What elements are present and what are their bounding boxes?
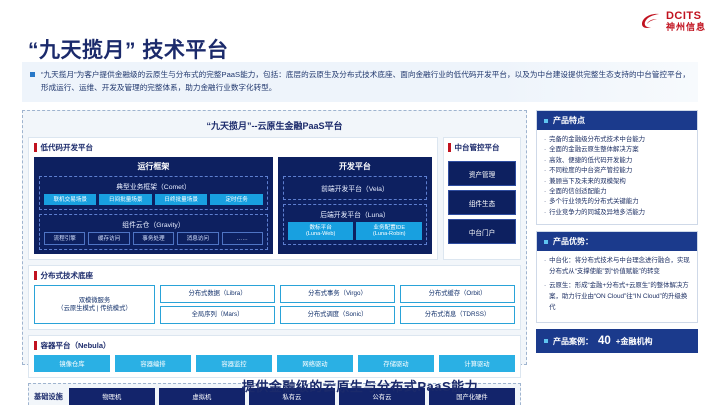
- square-bullet-icon: [544, 119, 548, 123]
- control-item[interactable]: 中台门户: [448, 219, 516, 244]
- foundation-column: 分布式事务（Virgo） 分布式调度（Sonic）: [280, 285, 395, 324]
- container-cell[interactable]: 容器编排: [115, 355, 191, 372]
- container-cell[interactable]: 计算驱动: [439, 355, 515, 372]
- accent-bar-icon: [34, 271, 37, 280]
- chip-item[interactable]: 日终批量场景: [155, 194, 207, 205]
- chip-item[interactable]: 日间批量场景: [99, 194, 151, 205]
- container-grid: 镜像仓库 容器编排 容器监控 网络驱动 存储驱动 计算驱动: [34, 355, 515, 372]
- dev-platform-title: 开发平台: [278, 157, 432, 176]
- list-item-label: 完备的金融级分布式技术中台能力: [549, 135, 645, 145]
- product-advantages-title: 产品优势：: [553, 236, 593, 247]
- gravity-section: 组件云仓（Gravity） 流程引擎 缓存访问 事务处理 消息访问 ……: [39, 214, 268, 250]
- container-cell[interactable]: 镜像仓库: [34, 355, 110, 372]
- square-bullet-icon: [544, 339, 548, 343]
- foundation-cell[interactable]: 分布式消息（TDRSS）: [400, 306, 515, 324]
- list-item-label: 中台化：将分布式技术与中台理念进行融合，实现分布式从“支撑使能”到“价值赋能”的…: [549, 256, 690, 278]
- frontend-label: 前端开发平台（Vela）: [288, 181, 422, 195]
- runtime-framework-title: 运行框架: [34, 157, 273, 176]
- chip-item[interactable]: ……: [222, 232, 263, 245]
- list-item-label: 全面的金融云原生整体解决方案: [549, 145, 638, 155]
- product-features-title: 产品特点: [553, 115, 585, 126]
- intro-banner: “九天揽月”为客户提供金融级的云原生与分布式的完整PaaS能力，包括：底层的云原…: [22, 62, 698, 102]
- container-cell[interactable]: 存储驱动: [358, 355, 434, 372]
- control-group-header: 中台管控平台: [448, 142, 516, 153]
- lowcode-group-title: 低代码开发平台: [41, 142, 94, 153]
- foundation-cell[interactable]: 全局序列（Mars）: [160, 306, 275, 324]
- list-item-label: 兼顾当下及未来的双模架构: [549, 177, 626, 187]
- foundation-cell[interactable]: 分布式调度（Sonic）: [280, 306, 395, 324]
- backend-label: 后端开发平台（Luna）: [288, 208, 422, 222]
- dot-bullet-icon: ·: [544, 197, 546, 207]
- control-platform-group: 中台管控平台 资产管理 组件生态 中台门户: [443, 137, 521, 260]
- foundation-column: 分布式数据（Libra） 全局序列（Mars）: [160, 285, 275, 324]
- list-item-label: 行业竞争力的同城及异地多活能力: [549, 208, 645, 218]
- foundation-cell[interactable]: 分布式事务（Virgo）: [280, 285, 395, 303]
- dot-bullet-icon: ·: [544, 208, 546, 218]
- accent-bar-icon: [34, 143, 37, 152]
- product-case-unit: +金融机构: [616, 336, 653, 347]
- square-bullet-icon: [30, 72, 35, 77]
- comet-chip-row: 联机交易场景 日间批量场景 日终批量场景 定时任务: [44, 194, 263, 205]
- list-item: ·中台化：将分布式技术与中台理念进行融合，实现分布式从“支撑使能”到“价值赋能”…: [544, 256, 690, 278]
- list-item: ·兼顾当下及未来的双模架构: [544, 177, 690, 187]
- foundation-group-header: 分布式技术底座: [34, 270, 515, 281]
- gravity-chip-row: 流程引擎 缓存访问 事务处理 消息访问 ……: [44, 232, 263, 245]
- product-advantages-list: ·中台化：将分布式技术与中台理念进行融合，实现分布式从“支撑使能”到“价值赋能”…: [537, 251, 697, 322]
- footer-tagline: 提供金融级的云原生与分布式PaaS能力: [0, 376, 720, 395]
- dot-bullet-icon: ·: [544, 156, 546, 166]
- foundation-group: 分布式技术底座 双模微服务 （云原生模式 | 传统模式） 分布式数据（Libra…: [28, 265, 521, 330]
- chip-item[interactable]: 流程引擎: [44, 232, 85, 245]
- runtime-framework-card[interactable]: 运行框架 典型业务框架（Comet） 联机交易场景 日间批量场景 日终批量场景 …: [34, 157, 273, 254]
- backend-chip-row: 数标平台 (Luna-Web) 业务配置IDE (Luna-Robin): [288, 222, 422, 240]
- chip-item[interactable]: 事务处理: [133, 232, 174, 245]
- list-item: ·行业竞争力的同城及异地多活能力: [544, 208, 690, 218]
- product-features-card: 产品特点 ·完备的金融级分布式技术中台能力 ·全面的金融云原生整体解决方案 ·高…: [536, 110, 698, 225]
- list-item-label: 全面的信创适配能力: [549, 187, 607, 197]
- foundation-column: 分布式缓存（Orbit） 分布式消息（TDRSS）: [400, 285, 515, 324]
- intro-text: “九天揽月”为客户提供金融级的云原生与分布式的完整PaaS能力，包括：底层的云原…: [41, 68, 690, 95]
- chip-item[interactable]: 缓存访问: [88, 232, 129, 245]
- diagram-title: “九天揽月”--云原生金融PaaS平台: [28, 116, 521, 137]
- control-group-title: 中台管控平台: [455, 142, 500, 153]
- backend-section: 后端开发平台（Luna） 数标平台 (Luna-Web) 业务配置IDE (Lu…: [283, 204, 427, 245]
- chip-item[interactable]: 消息访问: [177, 232, 218, 245]
- dot-bullet-icon: ·: [544, 187, 546, 197]
- container-group-title: 容器平台（Nebula）: [41, 340, 111, 351]
- comet-section: 典型业务框架（Comet） 联机交易场景 日间批量场景 日终批量场景 定时任务: [39, 176, 268, 210]
- foundation-grid: 双模微服务 （云原生模式 | 传统模式） 分布式数据（Libra） 全局序列（M…: [34, 285, 515, 324]
- list-item-label: 高效、便捷的低代码开发能力: [549, 156, 632, 166]
- container-cell[interactable]: 容器监控: [196, 355, 272, 372]
- brand-logo: DCITS 神州信息: [640, 10, 706, 32]
- chip-item[interactable]: 定时任务: [210, 194, 262, 205]
- chip-item[interactable]: 业务配置IDE (Luna-Robin): [356, 222, 422, 240]
- product-case-label: 产品案例：: [553, 336, 593, 347]
- logo-cn-text: 神州信息: [666, 23, 706, 32]
- dot-bullet-icon: ·: [544, 256, 546, 278]
- dot-bullet-icon: ·: [544, 281, 546, 314]
- list-item: ·多个行业领先的分布式关键能力: [544, 197, 690, 207]
- dot-bullet-icon: ·: [544, 177, 546, 187]
- comet-label: 典型业务框架（Comet）: [44, 180, 263, 194]
- dcits-swirl-icon: [640, 10, 662, 32]
- gravity-label: 组件云仓（Gravity）: [44, 218, 263, 232]
- foundation-group-title: 分布式技术底座: [41, 270, 94, 281]
- product-advantages-header: 产品优势：: [537, 232, 697, 251]
- chip-item[interactable]: 数标平台 (Luna-Web): [288, 222, 354, 240]
- product-case-card: 产品案例： 40 +金融机构: [536, 329, 698, 353]
- frontend-section: 前端开发平台（Vela）: [283, 176, 427, 200]
- chip-item[interactable]: 联机交易场景: [44, 194, 96, 205]
- product-case-number: 40: [598, 335, 611, 347]
- product-features-header: 产品特点: [537, 111, 697, 130]
- list-item-label: 云原生：形成“金融+分布式+云原生”的整体解决方案，助力行业由“ON Cloud…: [549, 281, 690, 314]
- foundation-cell[interactable]: 分布式数据（Libra）: [160, 285, 275, 303]
- control-item[interactable]: 组件生态: [448, 190, 516, 215]
- product-features-list: ·完备的金融级分布式技术中台能力 ·全面的金融云原生整体解决方案 ·高效、便捷的…: [537, 130, 697, 224]
- diagram-top-row: 低代码开发平台 运行框架 典型业务框架（Comet） 联机交易场景 日间批量场景…: [28, 137, 521, 260]
- control-item[interactable]: 资产管理: [448, 161, 516, 186]
- list-item-label: 不同粒度的中台资产管控能力: [549, 166, 632, 176]
- lowcode-group-header: 低代码开发平台: [34, 142, 432, 153]
- dev-platform-card[interactable]: 开发平台 前端开发平台（Vela） 后端开发平台（Luna） 数标平台 (Lun…: [278, 157, 432, 254]
- architecture-diagram: “九天揽月”--云原生金融PaaS平台 低代码开发平台 运行框架 典型业务框架（…: [22, 110, 527, 365]
- container-group-header: 容器平台（Nebula）: [34, 340, 515, 351]
- foundation-cell[interactable]: 分布式缓存（Orbit）: [400, 285, 515, 303]
- slide-root: DCITS 神州信息 “九天揽月” 技术平台 “九天揽月”为客户提供金融级的云原…: [0, 0, 720, 405]
- page-title: “九天揽月” 技术平台: [28, 34, 228, 64]
- logo-en-text: DCITS: [666, 11, 706, 22]
- square-bullet-icon: [544, 240, 548, 244]
- list-item: ·高效、便捷的低代码开发能力: [544, 156, 690, 166]
- lowcode-group: 低代码开发平台 运行框架 典型业务框架（Comet） 联机交易场景 日间批量场景…: [28, 137, 438, 260]
- list-item: ·全面的金融云原生整体解决方案: [544, 145, 690, 155]
- list-item: ·云原生：形成“金融+分布式+云原生”的整体解决方案，助力行业由“ON Clou…: [544, 281, 690, 314]
- container-cell[interactable]: 网络驱动: [277, 355, 353, 372]
- product-advantages-card: 产品优势： ·中台化：将分布式技术与中台理念进行融合，实现分布式从“支撑使能”到…: [536, 231, 698, 323]
- accent-bar-icon: [34, 341, 37, 350]
- dot-bullet-icon: ·: [544, 166, 546, 176]
- list-item: ·不同粒度的中台资产管控能力: [544, 166, 690, 176]
- list-item-label: 多个行业领先的分布式关键能力: [549, 197, 638, 207]
- container-group: 容器平台（Nebula） 镜像仓库 容器编排 容器监控 网络驱动 存储驱动 计算…: [28, 335, 521, 378]
- dual-mode-microservice-cell[interactable]: 双模微服务 （云原生模式 | 传统模式）: [34, 285, 155, 324]
- list-item: ·完备的金融级分布式技术中台能力: [544, 135, 690, 145]
- dot-bullet-icon: ·: [544, 135, 546, 145]
- list-item: ·全面的信创适配能力: [544, 187, 690, 197]
- side-column: 产品特点 ·完备的金融级分布式技术中台能力 ·全面的金融云原生整体解决方案 ·高…: [536, 110, 698, 353]
- accent-bar-icon: [448, 143, 451, 152]
- dot-bullet-icon: ·: [544, 145, 546, 155]
